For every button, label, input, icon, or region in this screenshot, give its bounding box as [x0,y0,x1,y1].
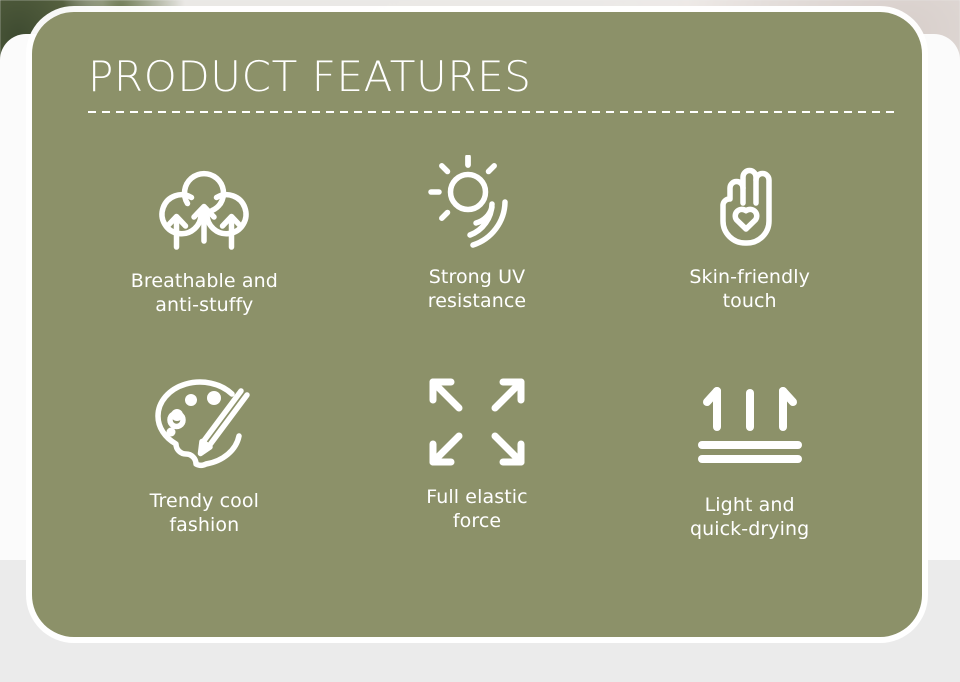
hand-heart-icon [704,152,796,258]
feature-label: Full elastic force [426,486,527,534]
feature-label: Strong UV resistance [428,266,526,314]
feature-item-breathable: Breathable and anti-stuffy [68,152,341,370]
feature-label: Light and quick-drying [690,494,809,542]
feature-label: Breathable and anti-stuffy [131,270,278,318]
card-inner: PRODUCT FEATURES [32,12,922,637]
feature-label: Trendy cool fashion [150,490,259,538]
feature-item-skin-friendly: Skin-friendly touch [613,152,886,370]
title-dashed-divider [88,111,894,113]
four-corner-expand-arrows-icon [425,370,529,474]
feature-item-trendy-fashion: Trendy cool fashion [68,370,341,588]
evaporation-arrows-fabric-icon [694,370,806,474]
feature-item-uv-resistance: Strong UV resistance [341,152,614,370]
breathable-circles-arrows-icon [146,152,262,258]
features-grid: Breathable and anti-stuffy [68,152,886,588]
sun-uv-rays-icon [421,152,533,258]
paint-palette-brush-icon [146,370,262,474]
page-title: PRODUCT FEATURES [88,56,532,98]
feature-item-elastic-force: Full elastic force [341,370,614,588]
product-features-card: PRODUCT FEATURES [32,12,922,637]
feature-label: Skin-friendly touch [689,266,810,314]
screenshot-stage: PRODUCT FEATURES [0,0,960,682]
feature-item-quick-drying: Light and quick-drying [613,370,886,588]
